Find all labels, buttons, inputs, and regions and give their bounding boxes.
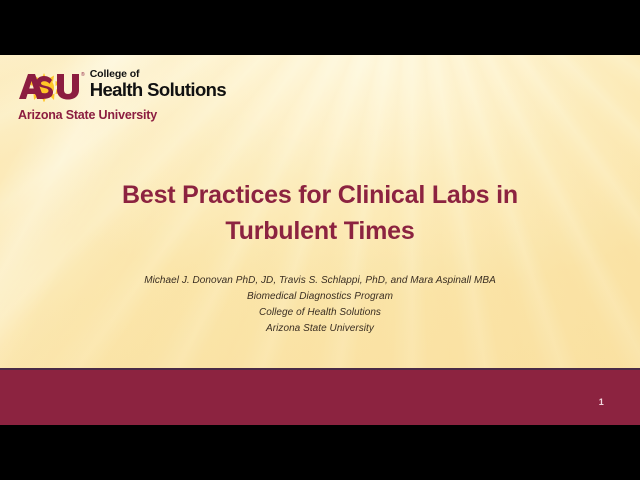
logo-wordmark: College of Health Solutions xyxy=(90,69,226,99)
registered-trademark-icon: ® xyxy=(81,73,85,78)
slide-title-line-2: Turbulent Times xyxy=(0,213,640,249)
letterbox-bottom-bar xyxy=(0,425,640,480)
slide-page-number: 1 xyxy=(599,397,604,407)
author-program: Biomedical Diagnostics Program xyxy=(0,289,640,305)
author-names: Michael J. Donovan PhD, JD, Travis S. Sc… xyxy=(0,273,640,289)
slide-footer-bar: 1 xyxy=(0,368,640,425)
video-slide-viewer: ® College of Health Solutions Arizona St… xyxy=(0,0,640,480)
author-university: Arizona State University xyxy=(0,321,640,337)
slide-title-line-1: Best Practices for Clinical Labs in xyxy=(0,177,640,213)
logo-university-text: Arizona State University xyxy=(18,108,226,122)
asu-sunburst-pitchfork-icon xyxy=(18,72,80,102)
slide-title: Best Practices for Clinical Labs in Turb… xyxy=(0,177,640,249)
logo-health-solutions-text: Health Solutions xyxy=(90,80,226,99)
presentation-slide: ® College of Health Solutions Arizona St… xyxy=(0,55,640,425)
logo-row: ® College of Health Solutions xyxy=(18,69,226,102)
letterbox-top-bar xyxy=(0,0,640,55)
slide-author-block: Michael J. Donovan PhD, JD, Travis S. Sc… xyxy=(0,273,640,337)
author-college: College of Health Solutions xyxy=(0,305,640,321)
asu-college-of-health-solutions-logo: ® College of Health Solutions Arizona St… xyxy=(18,69,226,122)
